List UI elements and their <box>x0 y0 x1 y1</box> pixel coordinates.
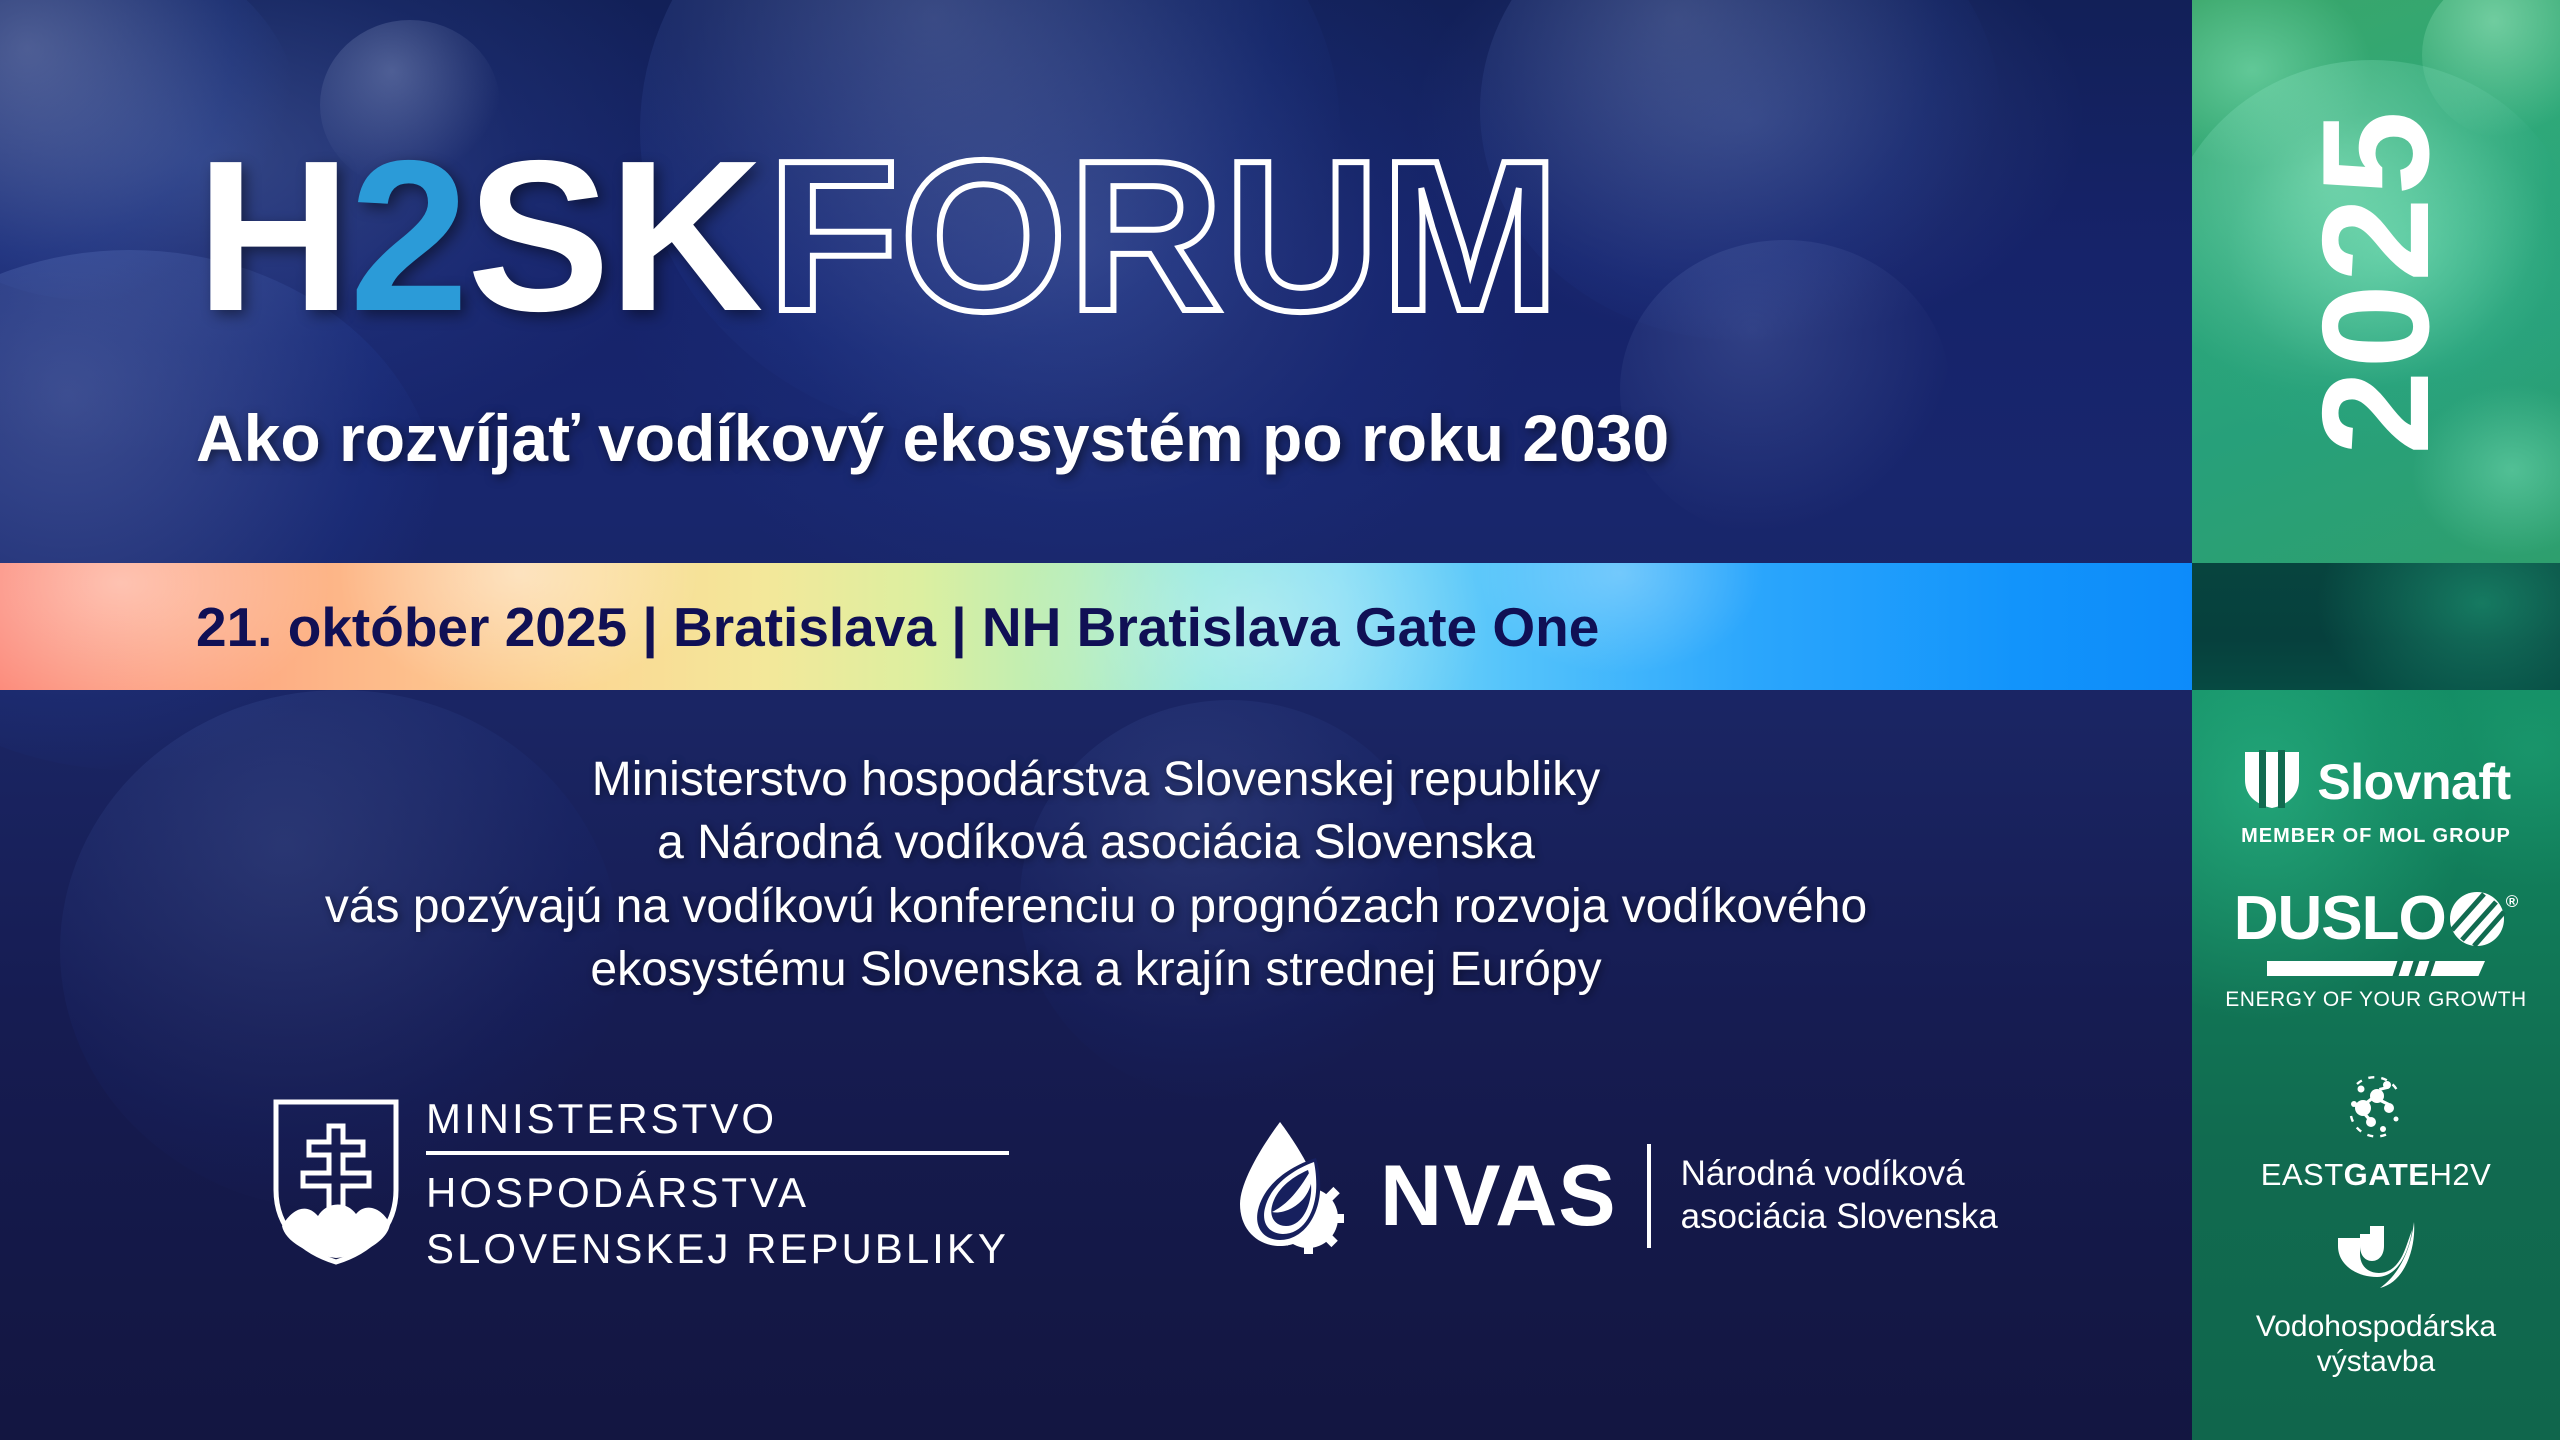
nvas-subtitle: Národná vodíková asociácia Slovenska <box>1681 1153 1998 1238</box>
nvas-subtitle-line-2: asociácia Slovenska <box>1681 1196 1998 1239</box>
title-h2sk: H2SK <box>196 128 762 343</box>
duslo-o-mark-icon <box>2448 890 2506 953</box>
vodohospodarska-line-1: Vodohospodárska <box>2256 1309 2496 1344</box>
bubble-decoration <box>1620 240 1950 540</box>
year-label: 2025 <box>2300 108 2452 454</box>
ministry-line-1: MINISTERSTVO <box>426 1095 1009 1155</box>
duslo-wordmark: DUSLO <box>2234 890 2446 949</box>
ministry-wordmark: MINISTERSTVO HOSPODÁRSTVA SLOVENSKEJ REP… <box>426 1095 1009 1273</box>
slovak-coat-of-arms-icon <box>272 1098 400 1271</box>
date-banner-text: 21. október 2025 | Bratislava | NH Brati… <box>196 595 1599 659</box>
nvas-acronym: NVAS <box>1380 1153 1617 1239</box>
invitation-line: ekosystému Slovenska a krajín strednej E… <box>0 938 2192 1001</box>
sponsor-eastgate: EASTGATEH2V <box>2192 1072 2560 1193</box>
duslo-lockup: DUSLO ® <box>2234 890 2519 953</box>
invitation-line: vás pozývajú na vodíkovú konferenciu o p… <box>0 875 2192 938</box>
nvas-subtitle-line-1: Národná vodíková <box>1681 1153 1998 1196</box>
nvas-droplet-gear-icon <box>1228 1118 1356 1273</box>
vodohospodarska-swoosh-icon <box>2326 1220 2426 1297</box>
eastgate-part-gate: GATE <box>2344 1157 2430 1192</box>
title-letter-h: H <box>196 115 349 356</box>
eastgate-wordmark: EASTGATEH2V <box>2261 1157 2492 1193</box>
nvas-divider <box>1647 1144 1651 1248</box>
slovnaft-lockup: Slovnaft <box>2241 748 2510 815</box>
eastgate-part-h2v: H2V <box>2429 1157 2491 1192</box>
eastgate-molecule-globe-icon <box>2341 1072 2411 1147</box>
slovnaft-wordmark: Slovnaft <box>2317 757 2510 807</box>
ministry-line-2: HOSPODÁRSTVA <box>426 1169 1009 1217</box>
title-digit-2: 2 <box>349 115 467 356</box>
poster-root: H2SK FORUM Ako rozvíjať vodíkový ekosyst… <box>0 0 2560 1440</box>
right-sidebar: 2025 Slovnaft MEMBER OF MOL G <box>2192 0 2560 1440</box>
duslo-registered-mark: ® <box>2506 892 2519 912</box>
event-title: H2SK FORUM <box>196 128 1561 343</box>
invitation-line: a Národná vodíková asociácia Slovenska <box>0 811 2192 874</box>
date-banner: 21. október 2025 | Bratislava | NH Brati… <box>0 563 2192 690</box>
sponsor-vodohospodarska: Vodohospodárska výstavba <box>2192 1220 2560 1380</box>
sponsor-slovnaft: Slovnaft MEMBER OF MOL GROUP <box>2192 748 2560 848</box>
event-tagline: Ako rozvíjať vodíkový ekosystém po roku … <box>196 400 1669 476</box>
year-panel: 2025 <box>2192 0 2560 563</box>
slovnaft-tagline: MEMBER OF MOL GROUP <box>2241 825 2511 848</box>
sponsor-duslo: DUSLO ® <box>2192 890 2560 1012</box>
nvas-logo: NVAS Národná vodíková asociácia Slovensk… <box>1228 1118 1998 1273</box>
vodohospodarska-line-2: výstavba <box>2256 1344 2496 1379</box>
title-letters-sk: SK <box>467 115 762 356</box>
slovnaft-shield-icon <box>2241 748 2303 815</box>
main-panel: H2SK FORUM Ako rozvíjať vodíkový ekosyst… <box>0 0 2192 1440</box>
vodohospodarska-wordmark: Vodohospodárska výstavba <box>2256 1309 2496 1380</box>
duslo-rule <box>2267 961 2485 976</box>
invitation-line: Ministerstvo hospodárstva Slovenskej rep… <box>0 748 2192 811</box>
invitation-text: Ministerstvo hospodárstva Slovenskej rep… <box>0 748 2192 1001</box>
sidebar-divider-band <box>2192 563 2560 690</box>
duslo-tagline: ENERGY OF YOUR GROWTH <box>2225 988 2526 1012</box>
eastgate-part-east: EAST <box>2261 1157 2344 1192</box>
sponsor-panel: Slovnaft MEMBER OF MOL GROUP DUSLO <box>2192 690 2560 1440</box>
ministry-logo: MINISTERSTVO HOSPODÁRSTVA SLOVENSKEJ REP… <box>272 1095 1009 1273</box>
title-forum: FORUM <box>768 128 1561 343</box>
ministry-line-3: SLOVENSKEJ REPUBLIKY <box>426 1225 1009 1273</box>
